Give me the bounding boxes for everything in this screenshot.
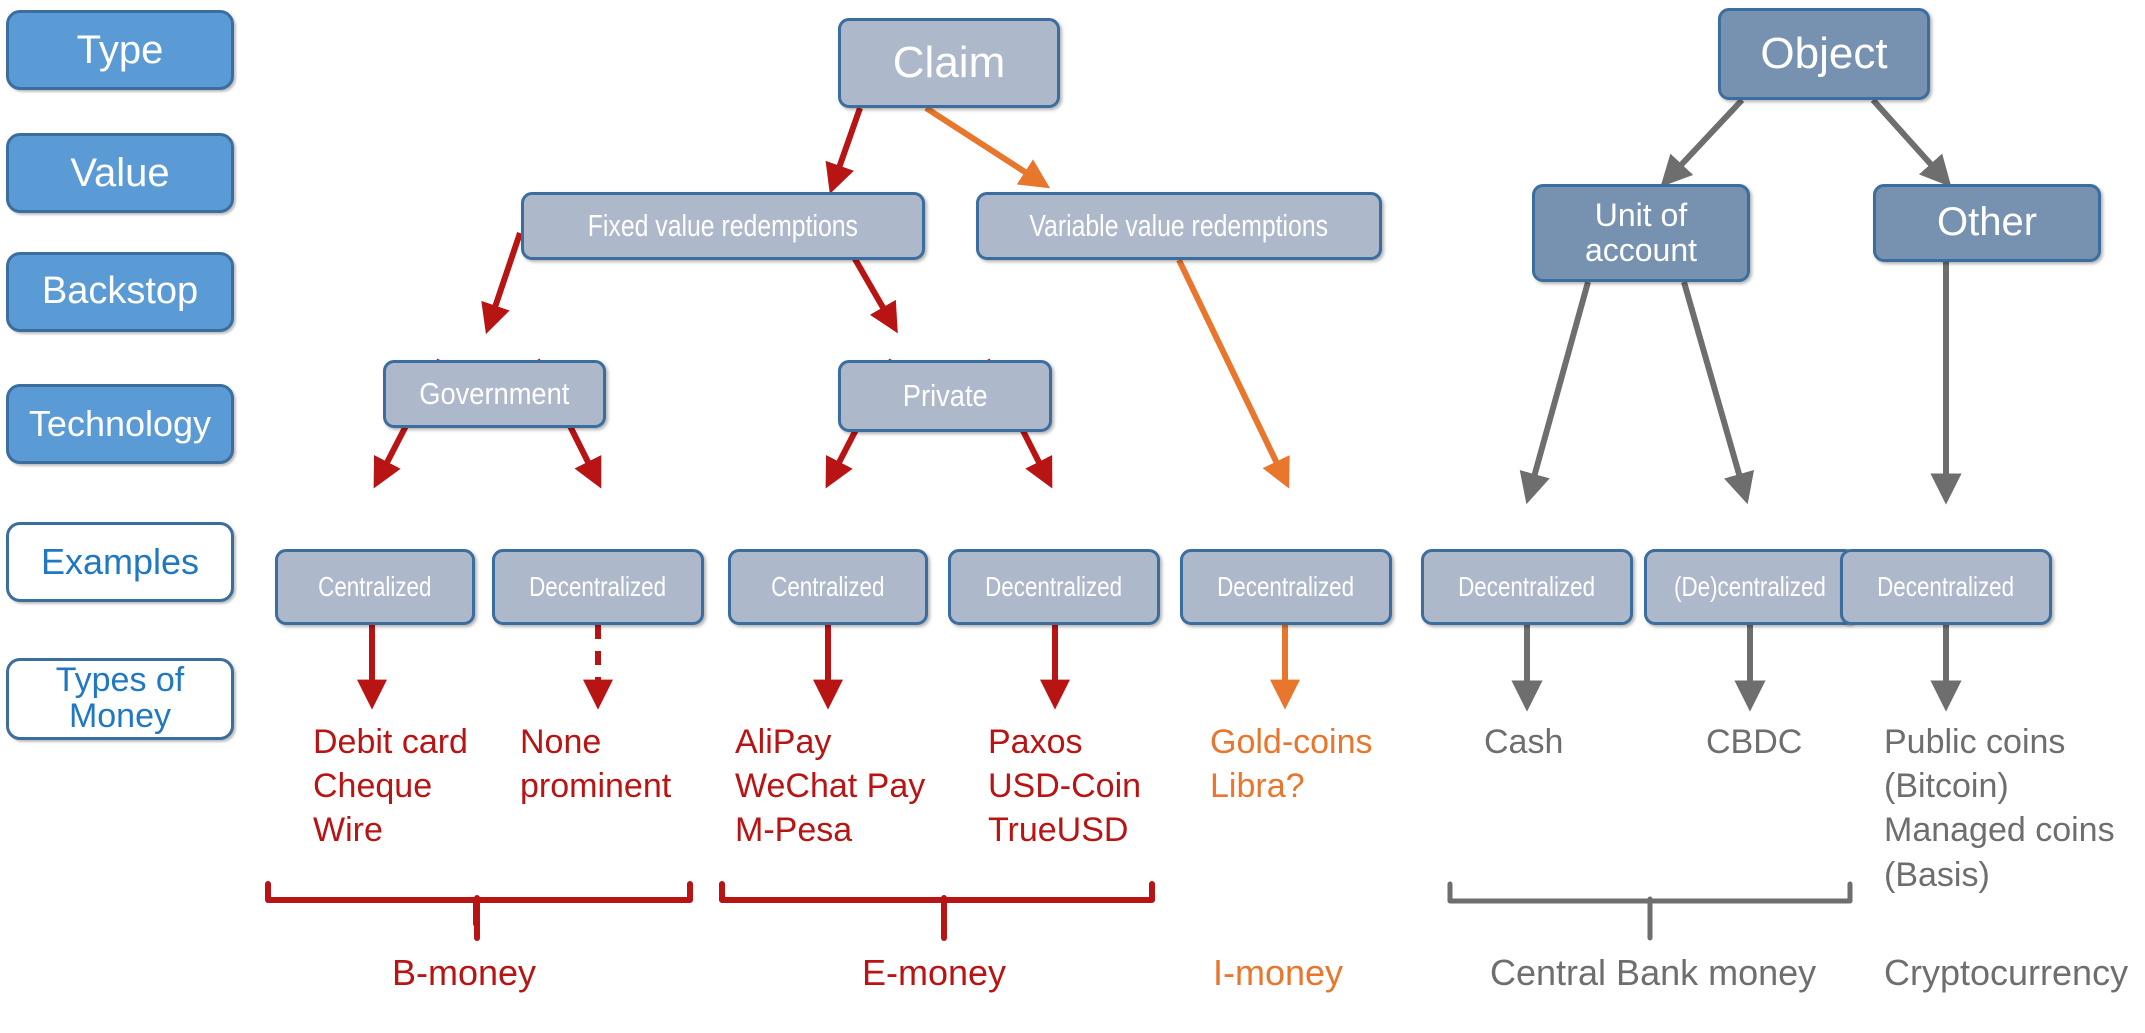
node-variable-value-redemptions-label: Variable value redemptions xyxy=(1030,209,1329,242)
example-paxos: Paxos USD-Coin TrueUSD xyxy=(988,720,1141,853)
node-tech-centralized-priv-label: Centralized xyxy=(771,572,884,602)
node-government[interactable]: Government xyxy=(383,360,606,428)
node-tech-decentralized-priv[interactable]: Decentralized xyxy=(948,549,1160,625)
example-public-coins: Public coins (Bitcoin) Managed coins (Ba… xyxy=(1884,720,2115,897)
brace-cb-money xyxy=(1450,884,1850,901)
row-label-type[interactable]: Type xyxy=(6,10,234,90)
money-type-b-money: B-money xyxy=(392,952,536,994)
connector-unit-to-tech6 xyxy=(1529,282,1588,495)
node-tech-decentralized-priv-label: Decentralized xyxy=(986,572,1123,602)
example-gold-coins: Gold-coins Libra? xyxy=(1210,720,1373,808)
node-tech-centralized-priv[interactable]: Centralized xyxy=(728,549,928,625)
row-label-backstop-text: Backstop xyxy=(42,272,198,312)
example-alipay: AliPay WeChat Pay M-Pesa xyxy=(735,720,925,853)
node-fixed-value-redemptions-label: Fixed value redemptions xyxy=(588,209,858,242)
row-label-value[interactable]: Value xyxy=(6,133,234,213)
connector-layer xyxy=(0,0,2145,1033)
money-type-i-money: I-money xyxy=(1213,952,1343,994)
node-claim-label: Claim xyxy=(841,39,1057,87)
example-debit-card: Debit card Cheque Wire xyxy=(313,720,468,853)
node-unit-of-account[interactable]: Unit of account xyxy=(1532,184,1750,282)
row-label-examples-text: Examples xyxy=(41,543,199,581)
node-tech-centralized-gov-label: Centralized xyxy=(318,572,431,602)
node-unit-of-account-label: Unit of account xyxy=(1535,198,1747,267)
row-label-value-text: Value xyxy=(70,152,169,194)
connector-fixed-to-government xyxy=(489,233,520,325)
connector-unit-to-tech7 xyxy=(1684,282,1745,495)
connector-object-to-other xyxy=(1873,100,1945,180)
connector-variable-to-tech5 xyxy=(1179,260,1285,480)
node-claim[interactable]: Claim xyxy=(838,18,1060,108)
node-tech-decentralized-variable-label: Decentralized xyxy=(1218,572,1355,602)
node-tech-decentralized-other-label: Decentralized xyxy=(1878,572,2015,602)
row-label-examples[interactable]: Examples xyxy=(6,522,234,602)
node-tech-decentralized-gov-label: Decentralized xyxy=(530,572,667,602)
node-tech-centralized-gov[interactable]: Centralized xyxy=(275,549,475,625)
node-tech-decentralized-unit-label: Decentralized xyxy=(1459,572,1596,602)
example-cash: Cash xyxy=(1484,720,1563,764)
connector-claim-to-fixed xyxy=(833,108,860,185)
connector-claim-to-variable xyxy=(926,108,1042,183)
money-type-central-bank-money: Central Bank money xyxy=(1490,952,1816,994)
node-tech-de-centralized-unit[interactable]: (De)centralized xyxy=(1644,549,1856,625)
money-type-e-money: E-money xyxy=(862,952,1006,994)
money-type-cryptocurrency: Cryptocurrency xyxy=(1884,952,2128,994)
node-other-label: Other xyxy=(1876,201,2098,244)
row-label-types-of-money[interactable]: Types of Money xyxy=(6,658,234,740)
node-variable-value-redemptions[interactable]: Variable value redemptions xyxy=(976,192,1382,260)
node-tech-decentralized-variable[interactable]: Decentralized xyxy=(1180,549,1392,625)
node-other[interactable]: Other xyxy=(1873,184,2101,262)
node-private-label: Private xyxy=(903,379,988,412)
money-tree-diagram: Type Value Backstop Technology Examples … xyxy=(0,0,2145,1033)
example-cbdc: CBDC xyxy=(1706,720,1802,764)
example-none-prominent: None prominent xyxy=(520,720,671,808)
row-label-technology[interactable]: Technology xyxy=(6,384,234,464)
row-label-backstop[interactable]: Backstop xyxy=(6,252,234,332)
node-tech-decentralized-gov[interactable]: Decentralized xyxy=(492,549,704,625)
node-object-label: Object xyxy=(1721,30,1927,78)
connector-object-to-unit xyxy=(1667,100,1742,180)
brace-e-money xyxy=(722,884,1152,900)
row-label-technology-text: Technology xyxy=(29,405,211,443)
node-government-label: Government xyxy=(419,377,569,410)
node-tech-decentralized-unit[interactable]: Decentralized xyxy=(1421,549,1633,625)
brace-b-money xyxy=(268,884,690,924)
row-label-type-text: Type xyxy=(77,29,164,71)
node-private[interactable]: Private xyxy=(838,360,1052,432)
node-tech-decentralized-other[interactable]: Decentralized xyxy=(1840,549,2052,625)
node-tech-de-centralized-unit-label: (De)centralized xyxy=(1674,572,1826,602)
node-fixed-value-redemptions[interactable]: Fixed value redemptions xyxy=(521,192,925,260)
node-object[interactable]: Object xyxy=(1718,8,1930,100)
row-label-types-of-money-text: Types of Money xyxy=(56,663,185,734)
